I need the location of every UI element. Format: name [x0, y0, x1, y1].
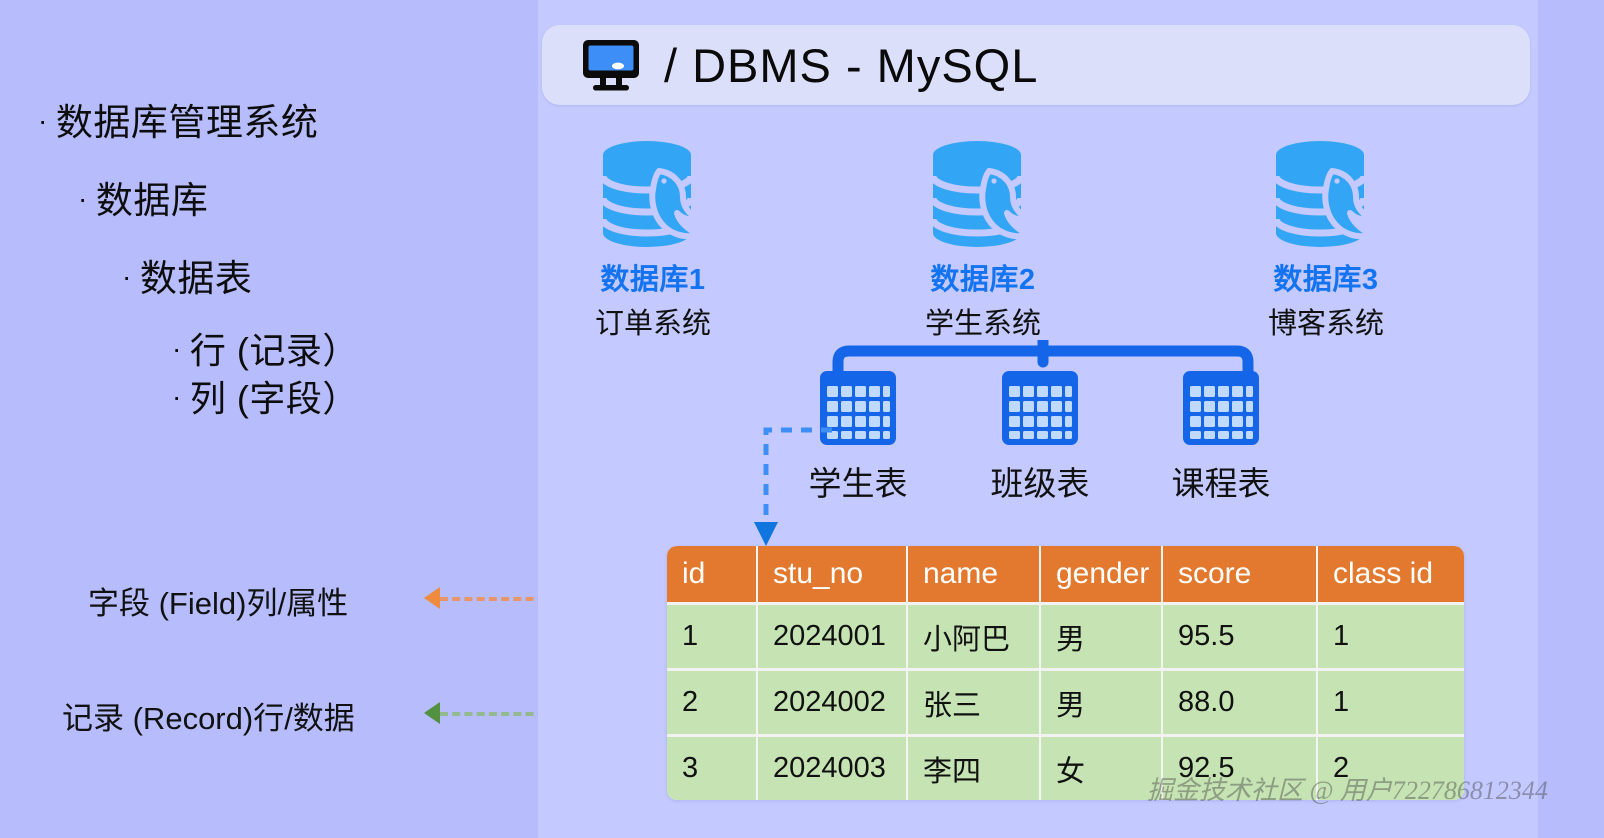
- student-table-connector: [752, 420, 834, 550]
- database-icon: [1258, 140, 1394, 248]
- table-row[interactable]: 1 2024001 小阿巴 男 95.5 1: [667, 602, 1464, 668]
- monitor-icon: [580, 38, 642, 92]
- outline-item-level3: ·数据表: [122, 248, 252, 302]
- column-header-class-id[interactable]: class id: [1318, 546, 1464, 602]
- arrow-left-icon: [424, 587, 440, 609]
- column-header-stu-no[interactable]: stu_no: [758, 546, 908, 602]
- outline-item-label: 数据库: [96, 180, 209, 221]
- table-node-course[interactable]: 课程表: [1126, 369, 1316, 505]
- grid-table-icon: [1000, 369, 1080, 447]
- database-node[interactable]: 数据库3 博客系统: [1211, 140, 1441, 342]
- outline-item-level2: ·数据库: [78, 170, 208, 224]
- outline-item-label: 列 (字段）: [190, 378, 359, 419]
- column-header-score[interactable]: score: [1163, 546, 1318, 602]
- cell-class-id: 2: [1318, 734, 1464, 800]
- cell-gender: 女: [1041, 734, 1163, 800]
- cell-score: 95.5: [1163, 602, 1318, 668]
- bullet-icon: ·: [172, 381, 190, 412]
- arrow-left-icon: [424, 702, 440, 724]
- bullet-icon: ·: [172, 333, 190, 364]
- database-icon: [915, 140, 1051, 248]
- database-system: 订单系统: [538, 300, 768, 342]
- bullet-icon: ·: [38, 105, 56, 136]
- outline-item-label: 数据库管理系统: [56, 102, 319, 143]
- table-row[interactable]: 3 2024003 李四 女 92.5 2: [667, 734, 1464, 800]
- table-header-row: id stu_no name gender score class id: [667, 546, 1464, 602]
- database-system: 学生系统: [868, 300, 1098, 342]
- diagram-panel: / DBMS - MySQL 数据库1 订单系统: [538, 0, 1538, 838]
- cell-gender: 男: [1041, 602, 1163, 668]
- database-name: 数据库3: [1211, 256, 1441, 298]
- cell-id: 2: [667, 668, 758, 734]
- outline-item-label: 数据表: [140, 258, 253, 299]
- cell-stu-no: 2024002: [758, 668, 908, 734]
- table-row[interactable]: 2 2024002 张三 男 88.0 1: [667, 668, 1464, 734]
- table-node-label: 课程表: [1126, 457, 1316, 505]
- database-node[interactable]: 数据库1 订单系统: [538, 140, 768, 342]
- page-title: / DBMS - MySQL: [664, 38, 1038, 93]
- annotation-field-label: 字段 (Field)列/属性: [88, 578, 348, 623]
- table-node-label: 班级表: [945, 457, 1135, 505]
- column-header-name[interactable]: name: [908, 546, 1041, 602]
- outline-item-level4-column: ·列 (字段）: [172, 370, 359, 422]
- column-header-gender[interactable]: gender: [1041, 546, 1163, 602]
- cell-score: 88.0: [1163, 668, 1318, 734]
- outline-item-level1: ·数据库管理系统: [38, 92, 318, 146]
- cell-class-id: 1: [1318, 602, 1464, 668]
- database-system: 博客系统: [1211, 300, 1441, 342]
- bullet-icon: ·: [78, 183, 96, 214]
- student-data-table: id stu_no name gender score class id 1 2…: [667, 546, 1464, 800]
- outline-item-label: 行 (记录）: [190, 330, 359, 371]
- cell-id: 3: [667, 734, 758, 800]
- annotation-record-label: 记录 (Record)行/数据: [62, 693, 355, 738]
- database-icon: [585, 140, 721, 248]
- outline-item-level4-row: ·行 (记录）: [172, 322, 359, 374]
- cell-class-id: 1: [1318, 668, 1464, 734]
- bullet-icon: ·: [122, 261, 140, 292]
- database-name: 数据库1: [538, 256, 768, 298]
- page-title-bar: / DBMS - MySQL: [542, 25, 1530, 105]
- table-node-class[interactable]: 班级表: [945, 369, 1135, 505]
- cell-score: 92.5: [1163, 734, 1318, 800]
- cell-name: 张三: [908, 668, 1041, 734]
- cell-id: 1: [667, 602, 758, 668]
- cell-name: 小阿巴: [908, 602, 1041, 668]
- grid-table-icon: [1181, 369, 1261, 447]
- cell-gender: 男: [1041, 668, 1163, 734]
- cell-stu-no: 2024001: [758, 602, 908, 668]
- cell-name: 李四: [908, 734, 1041, 800]
- database-name: 数据库2: [868, 256, 1098, 298]
- cell-stu-no: 2024003: [758, 734, 908, 800]
- column-header-id[interactable]: id: [667, 546, 758, 602]
- database-node[interactable]: 数据库2 学生系统: [868, 140, 1098, 342]
